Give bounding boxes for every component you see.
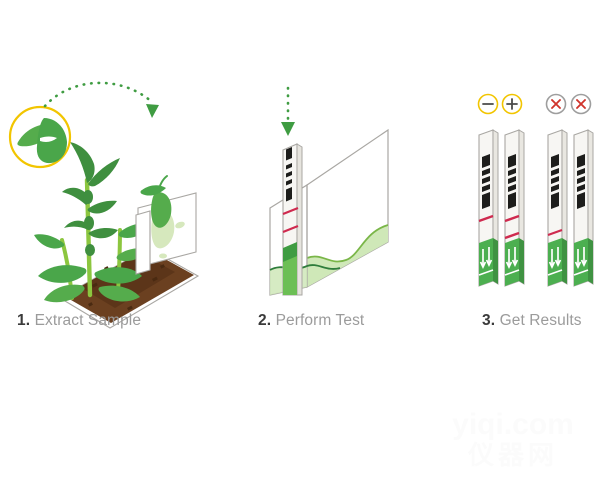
plant-stem-right	[118, 230, 120, 294]
strip-green-pad-light	[283, 256, 297, 295]
caption-step-2: 2. Perform Test	[258, 313, 364, 329]
bag-stain-drop-2	[159, 254, 167, 259]
invalid-icon-2[interactable]	[572, 95, 591, 114]
caption-step-3-number: 3.	[482, 312, 495, 329]
strip-edge	[297, 144, 302, 295]
caption-step-2-label: Perform Test	[276, 312, 365, 329]
positive-icon[interactable]	[503, 95, 522, 114]
panel-get-results	[460, 85, 600, 290]
plant-node-1	[83, 190, 93, 204]
strip-invalid-2	[574, 130, 593, 286]
watermark-domain: yiqi.com	[438, 410, 588, 440]
strip-negative	[479, 130, 498, 286]
watermark: yiqi.com 仪器网	[438, 410, 588, 472]
caption-step-1: 1. Extract Sample	[17, 313, 141, 329]
perform-test-illustration	[250, 80, 430, 295]
sample-bag	[136, 176, 196, 274]
caption-step-3: 3. Get Results	[482, 313, 582, 329]
strip-green-pad-edge	[562, 238, 567, 284]
plant-node-3	[85, 244, 95, 256]
bag-front-panel	[136, 211, 150, 274]
strip-positive	[505, 130, 524, 286]
plant-leaf-mid-2	[89, 228, 119, 238]
extract-sample-illustration	[0, 80, 220, 290]
plant-leaf-top-1	[70, 142, 95, 183]
negative-icon[interactable]	[479, 95, 498, 114]
leaf-magnifier	[10, 107, 70, 167]
dotted-transfer-arrow	[45, 83, 159, 118]
invalid-icon-1[interactable]	[547, 95, 566, 114]
caption-step-3-label: Get Results	[500, 312, 582, 329]
strip-green-pad-edge	[493, 238, 498, 284]
get-results-illustration	[460, 85, 600, 290]
strip-green-pad-edge	[588, 238, 593, 284]
dotted-dip-arrow	[281, 88, 295, 136]
plant	[34, 142, 151, 302]
strip-green-pad-edge	[519, 238, 524, 284]
watermark-chinese: 仪器网	[438, 440, 588, 470]
figure-canvas: 1. Extract Sample 2. Perform Test 3. Get…	[0, 0, 600, 480]
panel-perform-test	[250, 80, 430, 295]
panel-extract-sample	[0, 80, 220, 290]
plant-leaf-low-left	[38, 265, 86, 283]
plant-node-2	[84, 216, 94, 230]
caption-step-2-number: 2.	[258, 312, 271, 329]
test-strip-dipping	[283, 144, 302, 295]
caption-step-1-label: Extract Sample	[35, 312, 142, 329]
caption-step-1-number: 1.	[17, 312, 30, 329]
strip-invalid-1	[548, 130, 567, 286]
plant-leaf-left-1	[34, 234, 64, 248]
plant-leaf-top-4	[88, 201, 117, 214]
strip-barcode	[286, 147, 292, 201]
